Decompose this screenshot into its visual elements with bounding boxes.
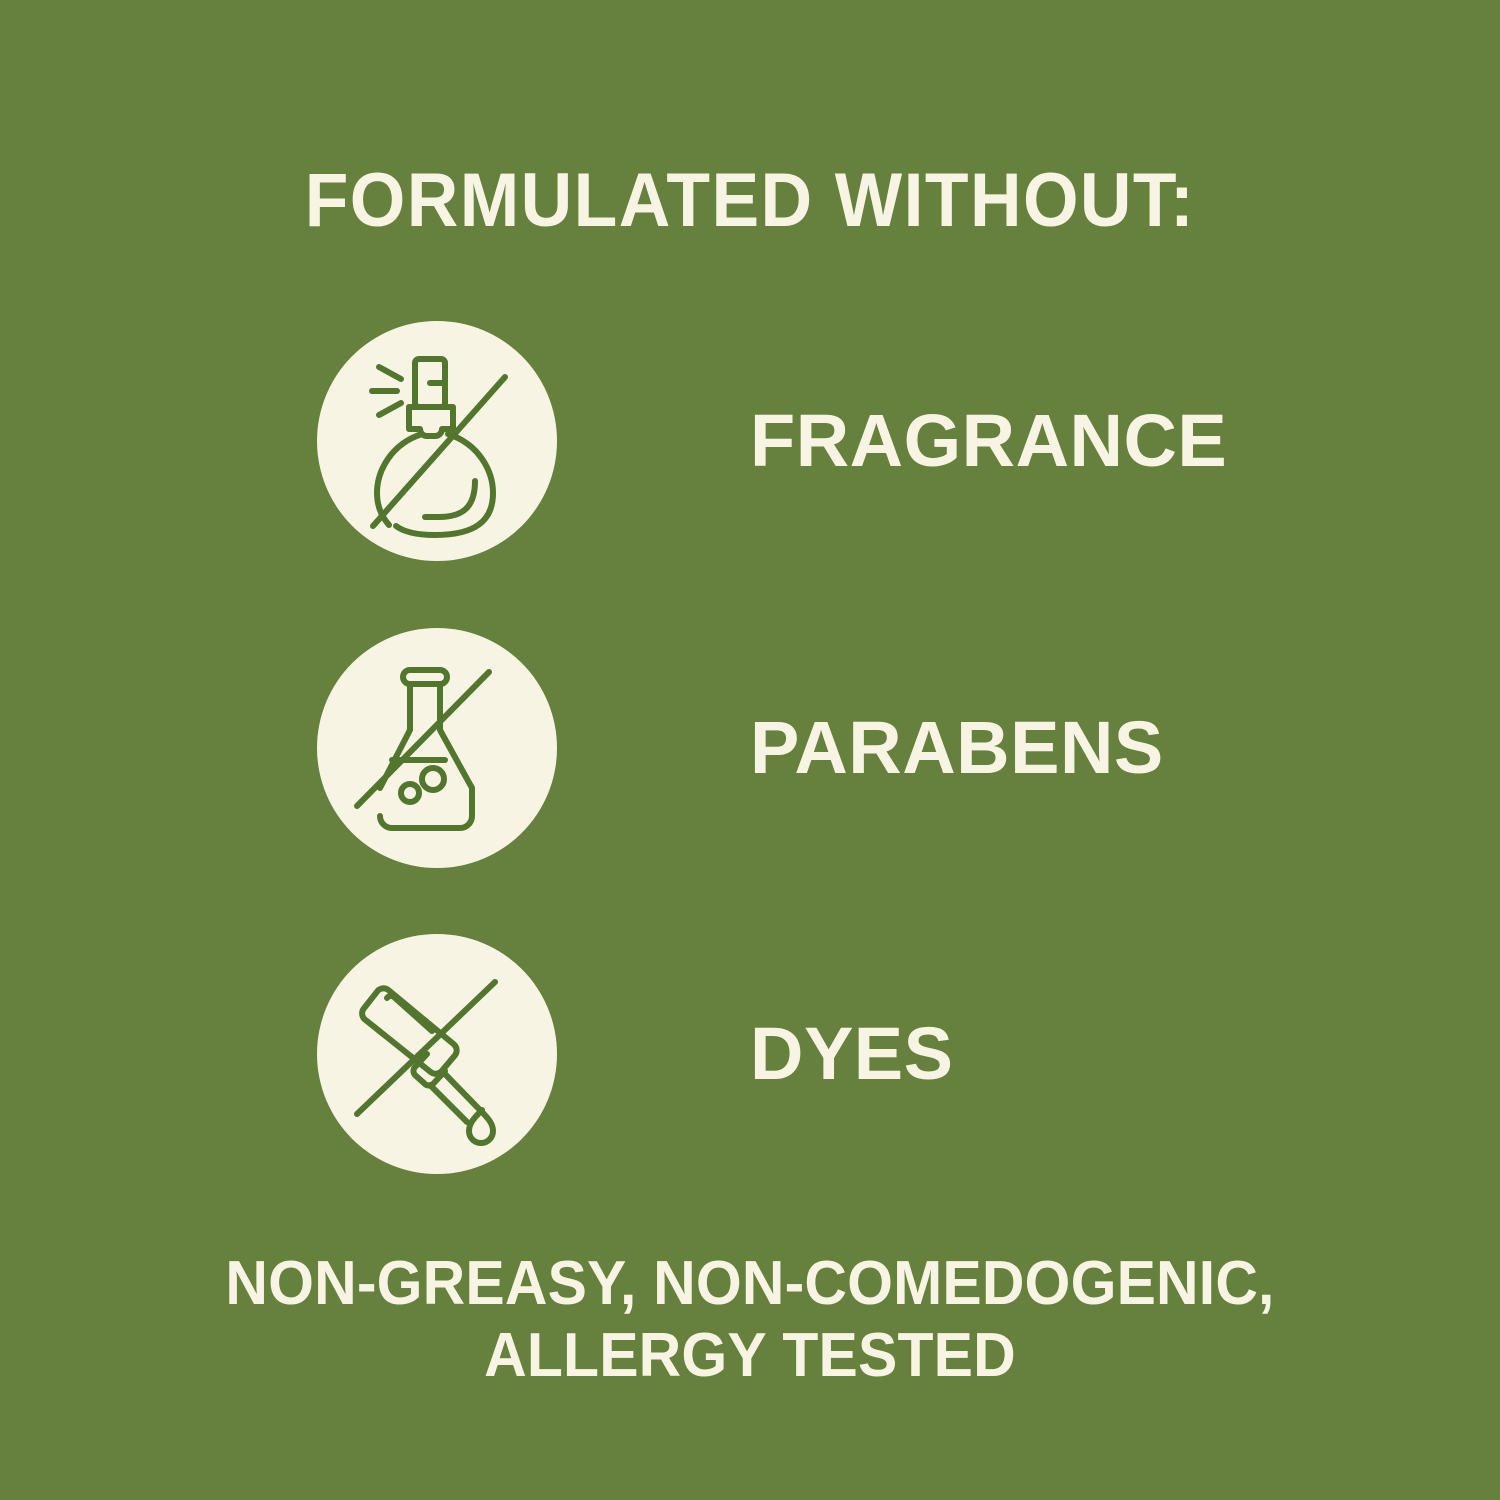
footer-line-2: ALLERGY TESTED [38,1320,1463,1392]
no-dropper-pipette-icon [317,934,557,1174]
list-item: DYES [317,934,1317,1174]
formulated-without-panel: FORMULATED WITHOUT: [0,0,1500,1500]
claim-label-fragrance: FRAGRANCE [750,404,1227,478]
list-item: FRAGRANCE [317,321,1317,561]
no-chemical-flask-icon [317,628,557,868]
list-item: PARABENS [317,628,1317,868]
no-fragrance-bottle-icon [317,321,557,561]
footer-line-1: NON-GREASY, NON-COMEDOGENIC, [38,1248,1463,1320]
claim-label-parabens: PARABENS [750,711,1164,785]
footer-claims: NON-GREASY, NON-COMEDOGENIC, ALLERGY TES… [38,1248,1463,1392]
claim-label-dyes: DYES [750,1017,954,1091]
